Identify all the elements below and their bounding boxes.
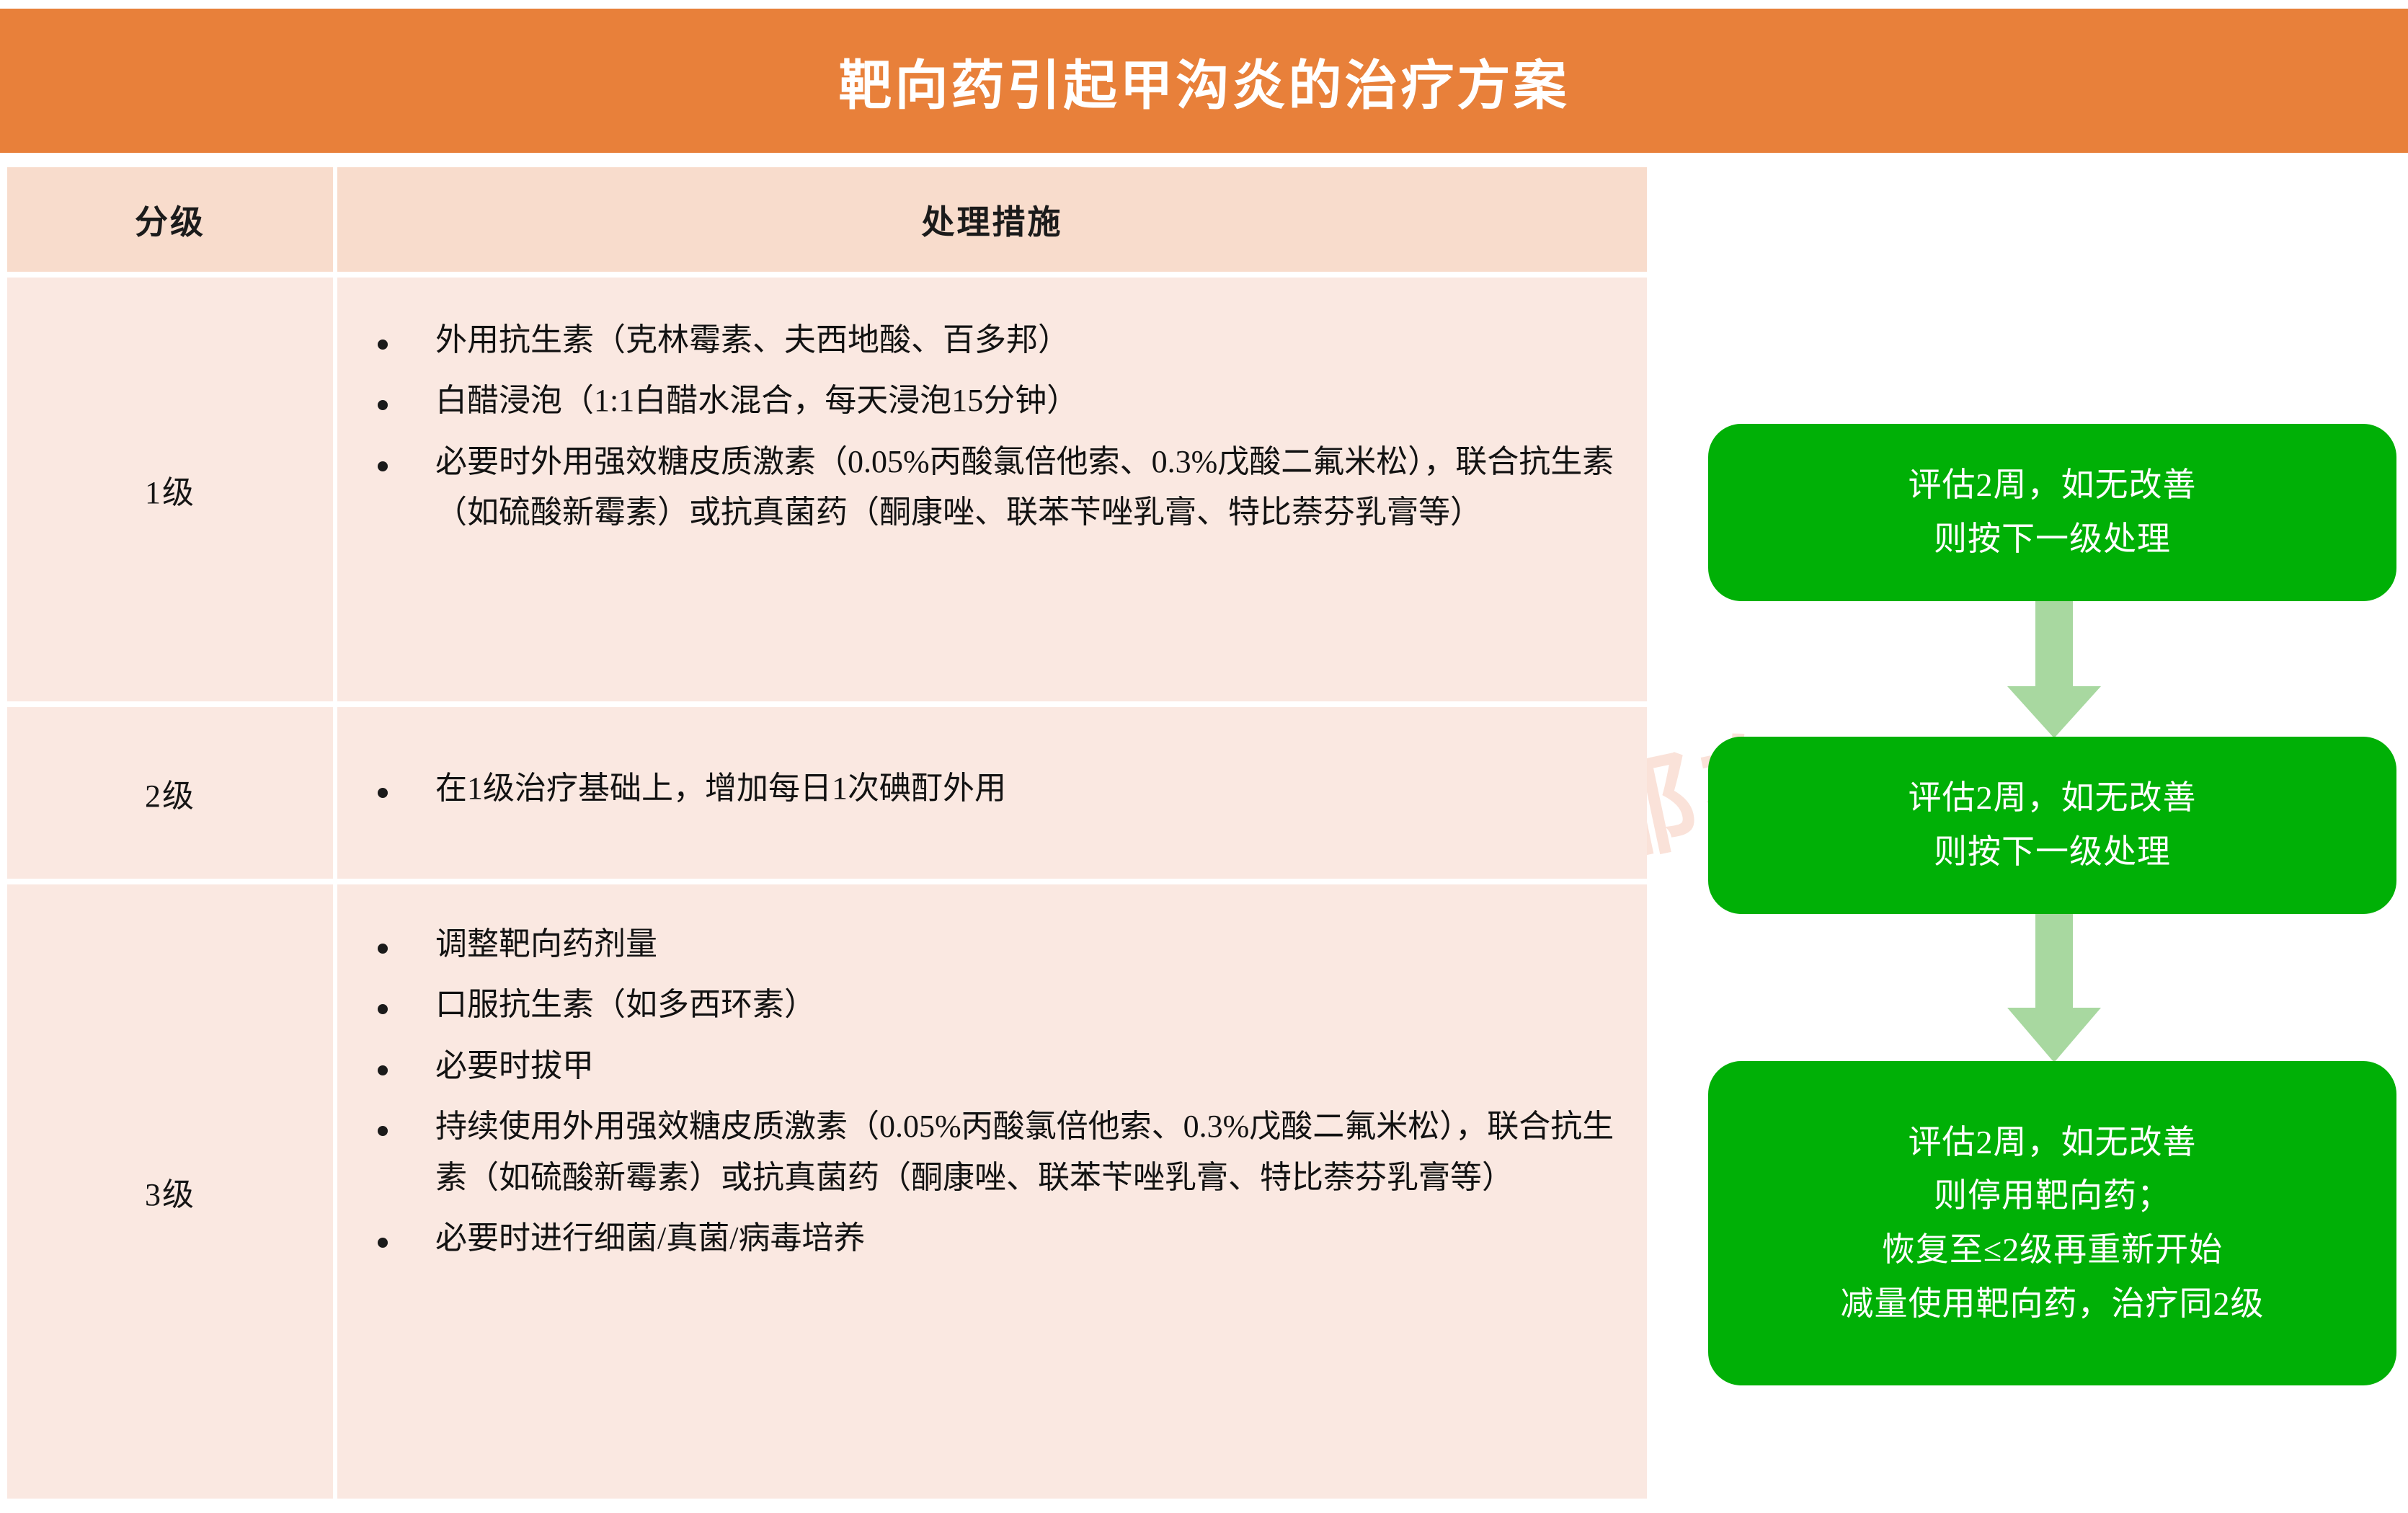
row-level-label: 2级 (145, 770, 195, 816)
bullet-dot-icon (378, 944, 388, 954)
row-divider (7, 701, 1647, 707)
bullet-dot-icon (378, 340, 388, 350)
flow-box-level1: 评估2周，如无改善 则按下一级处理 (1708, 424, 2396, 601)
list-item: 必要时拔甲 (362, 1041, 1627, 1091)
list-item-text: 必要时进行细菌/真菌/病毒培养 (435, 1220, 865, 1256)
row-divider (7, 272, 1647, 278)
page-root: 州塔肿瘤医生 你不是一个人 我们一直都在 靶向药引起甲沟炎的治疗方案 分级 处理… (0, 0, 2408, 1513)
bullet-dot-icon (378, 461, 388, 471)
flow-box-line: 减量使用靶向药，治疗同2级 (1841, 1277, 2265, 1331)
flow-box-line: 评估2周，如无改善 (1909, 1116, 2197, 1170)
list-item-text: 在1级治疗基础上，增加每日1次碘酊外用 (435, 771, 1006, 806)
row-level-cell: 3级 (7, 884, 333, 1499)
flow-box-line: 恢复至≤2级再重新开始 (1882, 1223, 2223, 1277)
list-item: 持续使用外用强效糖皮质激素（0.05%丙酸氯倍他索、0.3%戊酸二氟米松），联合… (362, 1101, 1627, 1203)
row-measures-cell: 调整靶向药剂量 口服抗生素（如多西环素） 必要时拔甲 持续使用外用强效糖皮质激素… (337, 884, 1647, 1499)
list-item: 必要时外用强效糖皮质激素（0.05%丙酸氯倍他索、0.3%戊酸二氟米松），联合抗… (362, 437, 1627, 538)
list-item-text: 白醋浸泡（1:1白醋水混合，每天浸泡15分钟） (435, 383, 1078, 418)
flow-box-level2: 评估2周，如无改善 则按下一级处理 (1708, 737, 2396, 914)
bullet-dot-icon (378, 1126, 388, 1136)
flow-box-level3: 评估2周，如无改善 则停用靶向药； 恢复至≤2级再重新开始 减量使用靶向药，治疗… (1708, 1061, 2396, 1385)
bullet-dot-icon (378, 1065, 388, 1075)
row-divider (7, 879, 1647, 884)
table-header-row: 分级 处理措施 (7, 167, 1647, 272)
row-level-cell: 2级 (7, 707, 333, 879)
list-item: 在1级治疗基础上，增加每日1次碘酊外用 (362, 763, 1627, 814)
down-arrow-icon (2004, 914, 2105, 1062)
list-item-text: 调整靶向药剂量 (435, 926, 657, 962)
table-row: 2级 在1级治疗基础上，增加每日1次碘酊外用 (7, 707, 1647, 879)
page-title: 靶向药引起甲沟炎的治疗方案 (839, 43, 1570, 120)
list-item: 口服抗生素（如多西环素） (362, 980, 1627, 1030)
flow-box-line: 评估2周，如无改善 (1909, 771, 2197, 825)
list-item: 白醋浸泡（1:1白醋水混合，每天浸泡15分钟） (362, 376, 1627, 426)
flow-column: 评估2周，如无改善 则按下一级处理 评估2周，如无改善 则按下一级处理 评估2周… (1708, 0, 2400, 1513)
list-item: 外用抗生素（克林霉素、夫西地酸、百多邦） (362, 315, 1627, 365)
flow-box-line: 则按下一级处理 (1934, 513, 2171, 567)
row-level-label: 1级 (145, 466, 195, 513)
row-level-label: 3级 (145, 1168, 195, 1215)
list-item-text: 持续使用外用强效糖皮质激素（0.05%丙酸氯倍他索、0.3%戊酸二氟米松），联合… (435, 1109, 1614, 1194)
table-row: 1级 外用抗生素（克林霉素、夫西地酸、百多邦） 白醋浸泡（1:1白醋水混合，每天… (7, 278, 1647, 701)
measure-list: 调整靶向药剂量 口服抗生素（如多西环素） 必要时拔甲 持续使用外用强效糖皮质激素… (362, 919, 1627, 1264)
column-header-measures-label: 处理措施 (922, 196, 1063, 244)
list-item-text: 必要时拔甲 (435, 1048, 594, 1083)
treatment-table: 分级 处理措施 1级 外用抗生素（克林霉素、夫西地酸、百多邦） 白醋浸泡（1:1… (7, 167, 1647, 1499)
flow-box-line: 评估2周，如无改善 (1909, 458, 2197, 513)
row-level-cell: 1级 (7, 278, 333, 701)
down-arrow-icon (2004, 601, 2105, 738)
table-row: 3级 调整靶向药剂量 口服抗生素（如多西环素） 必要时拔甲 持续使用外用强效糖皮… (7, 884, 1647, 1499)
flow-box-line: 则按下一级处理 (1934, 825, 2171, 879)
list-item: 必要时进行细菌/真菌/病毒培养 (362, 1213, 1627, 1264)
bullet-dot-icon (378, 1238, 388, 1248)
row-measures-cell: 在1级治疗基础上，增加每日1次碘酊外用 (337, 707, 1647, 879)
column-header-level: 分级 (7, 167, 333, 272)
bullet-dot-icon (378, 788, 388, 798)
list-item-text: 外用抗生素（克林霉素、夫西地酸、百多邦） (435, 322, 1070, 358)
measure-list: 外用抗生素（克林霉素、夫西地酸、百多邦） 白醋浸泡（1:1白醋水混合，每天浸泡1… (362, 315, 1627, 538)
column-header-measures: 处理措施 (337, 167, 1647, 272)
list-item: 调整靶向药剂量 (362, 919, 1627, 970)
row-measures-cell: 外用抗生素（克林霉素、夫西地酸、百多邦） 白醋浸泡（1:1白醋水混合，每天浸泡1… (337, 278, 1647, 701)
bullet-dot-icon (378, 400, 388, 410)
measure-list: 在1级治疗基础上，增加每日1次碘酊外用 (362, 763, 1627, 814)
bullet-dot-icon (378, 1004, 388, 1014)
column-header-level-label: 分级 (135, 196, 205, 244)
list-item-text: 必要时外用强效糖皮质激素（0.05%丙酸氯倍他索、0.3%戊酸二氟米松），联合抗… (435, 444, 1614, 530)
flow-box-line: 则停用靶向药； (1934, 1169, 2171, 1223)
list-item-text: 口服抗生素（如多西环素） (435, 987, 816, 1022)
